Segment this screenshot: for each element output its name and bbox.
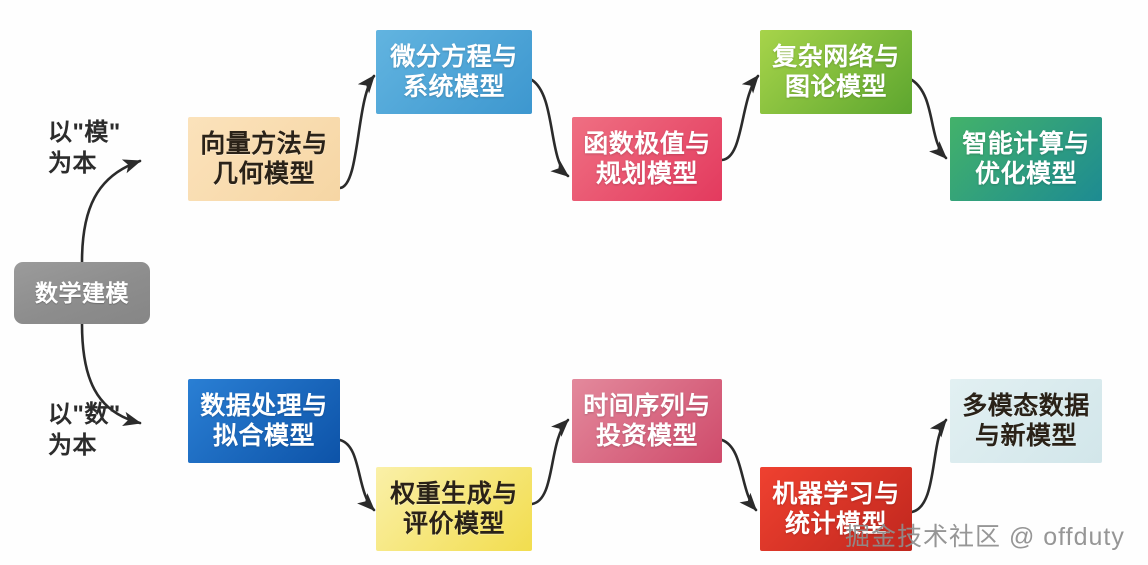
model-branch-label: 以"模" 为本 <box>48 118 121 179</box>
node-differential-equations[interactable]: 微分方程与 系统模型 <box>376 30 532 114</box>
node-time-series-investment[interactable]: 时间序列与 投资模型 <box>572 379 722 463</box>
edge-vector-to-differential <box>340 76 374 188</box>
node-data-processing-fitting[interactable]: 数据处理与 拟合模型 <box>188 379 340 463</box>
node-weight-evaluation[interactable]: 权重生成与 评价模型 <box>376 467 532 551</box>
watermark-text: 掘金技术社区 @ offduty <box>845 517 1125 553</box>
edge-timeseries-to-machinelearning <box>722 440 756 510</box>
node-complex-network-graph[interactable]: 复杂网络与 图论模型 <box>760 30 912 114</box>
node-multimodal-new-models[interactable]: 多模态数据 与新模型 <box>950 379 1102 463</box>
data-branch-label: 以"数" 为本 <box>48 400 121 461</box>
root-node[interactable]: 数学建模 <box>14 262 150 324</box>
edge-network-to-intelligent <box>912 80 946 158</box>
node-extremum-programming[interactable]: 函数极值与 规划模型 <box>572 117 722 201</box>
edge-data-to-weight <box>340 440 374 510</box>
edge-differential-to-extremum <box>532 80 568 176</box>
edge-extremum-to-network <box>722 76 758 160</box>
mindmap-canvas: 数学建模 以"模" 为本 以"数" 为本 向量方法与 几何模型 微分方程与 系统… <box>0 0 1148 565</box>
edge-machinelearning-to-multimodal <box>912 420 946 512</box>
node-intelligent-optimization[interactable]: 智能计算与 优化模型 <box>950 117 1102 201</box>
node-vector-geometry[interactable]: 向量方法与 几何模型 <box>188 117 340 201</box>
edge-weight-to-timeseries <box>532 420 568 504</box>
edge-layer <box>0 0 1148 565</box>
